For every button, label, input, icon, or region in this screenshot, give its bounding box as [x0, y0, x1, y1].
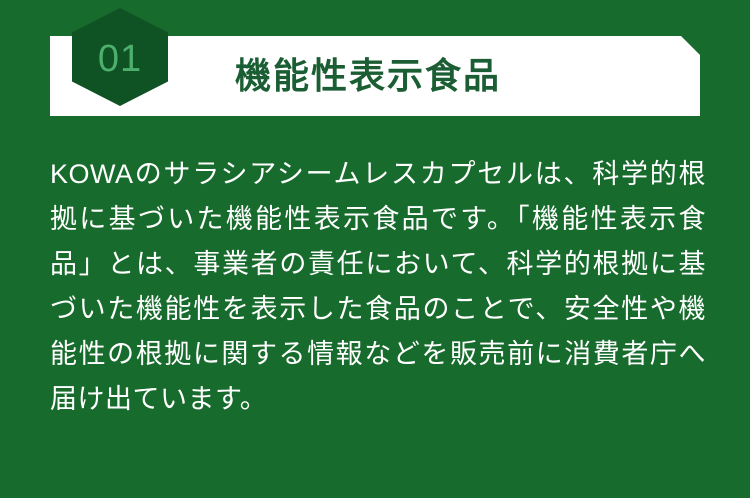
body-section: KOWAのサラシアシームレスカプセルは、科学的根拠に基づいた機能性表示食品です。…	[50, 152, 706, 422]
content-card: 機能性表示食品 01 KOWAのサラシアシームレスカプセルは、科学的根拠に基づい…	[0, 0, 750, 498]
header-section: 機能性表示食品 01	[0, 0, 750, 130]
step-badge: 01	[72, 8, 168, 106]
page-title: 機能性表示食品	[235, 36, 501, 116]
step-number-label: 01	[72, 8, 168, 106]
body-paragraph: KOWAのサラシアシームレスカプセルは、科学的根拠に基づいた機能性表示食品です。…	[50, 152, 706, 422]
